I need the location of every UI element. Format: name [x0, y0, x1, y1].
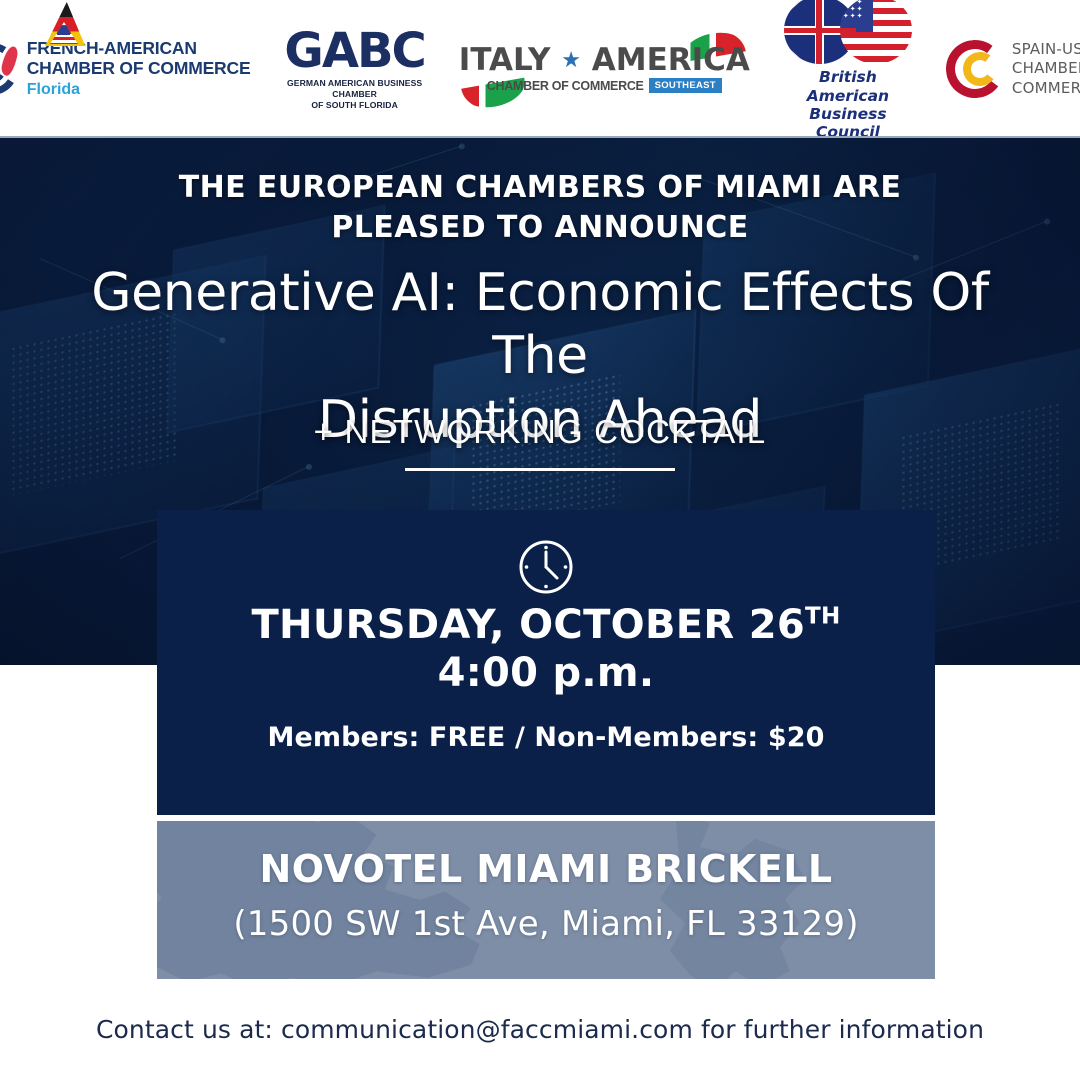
- divider-rule: [405, 468, 675, 471]
- contact-info: Contact us at: communication@faccmiami.c…: [0, 1015, 1080, 1044]
- venue-name: NOVOTEL MIAMI BRICKELL: [157, 847, 935, 891]
- event-flyer: FRENCH-AMERICAN CHAMBER OF COMMERCE Flor…: [0, 0, 1080, 1080]
- map-silhouette-secondary-icon: [625, 821, 875, 979]
- facc-line-3: Florida: [27, 81, 251, 99]
- event-date-text: THURSDAY, OCTOBER 26: [251, 602, 805, 648]
- double-c-icon: [946, 40, 1004, 98]
- gabc-wordmark: GABC: [284, 27, 424, 75]
- babc-line-2: Business Council: [784, 105, 912, 142]
- logo-spain-us-chamber: SPAIN-US CHAMBER OF COMMERCE: [946, 40, 1080, 99]
- logo-french-american-chamber: FRENCH-AMERICAN CHAMBER OF COMMERCE Flor…: [0, 39, 250, 99]
- venue-address: (1500 SW 1st Ave, Miami, FL 33129): [157, 904, 935, 944]
- map-silhouette-icon: [157, 821, 557, 979]
- clock-icon: [517, 538, 575, 601]
- spain-line-1: SPAIN-US: [1012, 40, 1080, 60]
- gabc-sub-line-1: GERMAN AMERICAN BUSINESS CHAMBER: [284, 78, 424, 99]
- event-time: 4:00 p.m.: [157, 650, 935, 696]
- event-details-panel: THURSDAY, OCTOBER 26TH 4:00 p.m. Members…: [157, 510, 935, 815]
- italy-southeast-tag: SOUTHEAST: [649, 78, 722, 93]
- facc-line-2: CHAMBER OF COMMERCE: [27, 59, 251, 79]
- event-price: Members: FREE / Non-Members: $20: [157, 722, 935, 753]
- star-icon: ★: [561, 48, 581, 73]
- event-date-ordinal: TH: [805, 604, 841, 630]
- spain-line-2: CHAMBER OF: [1012, 59, 1080, 79]
- babc-line-1: British American: [784, 68, 912, 105]
- event-date: THURSDAY, OCTOBER 26TH: [157, 602, 935, 648]
- logo-british-american-business-council: ✦✦✦✦✦✦✦✦✦ British American Business Coun…: [784, 0, 912, 142]
- logo-italy-america-chamber: ITALY ★ AMERICA CHAMBER OF COMMERCE SOUT…: [459, 45, 750, 93]
- italy-chamber-line: CHAMBER OF COMMERCE: [487, 79, 644, 93]
- sponsor-logo-strip: FRENCH-AMERICAN CHAMBER OF COMMERCE Flor…: [0, 0, 1080, 138]
- event-subtitle: + NETWORKING COCKTAIL: [0, 413, 1080, 451]
- cci-arc-flame-icon: [0, 43, 18, 95]
- america-word: AMERICA: [592, 42, 750, 78]
- italy-word: ITALY: [459, 42, 551, 78]
- announcement-line-1: THE EUROPEAN CHAMBERS OF MIAMI ARE: [0, 168, 1080, 208]
- logo-german-american-business-chamber: GABC GERMAN AMERICAN BUSINESS CHAMBER OF…: [284, 27, 424, 110]
- uk-us-flag-circles-icon: ✦✦✦✦✦✦✦✦✦: [784, 0, 912, 64]
- gabc-sub-line-2: OF SOUTH FLORIDA: [284, 100, 424, 111]
- event-title-line-1: Generative AI: Economic Effects Of The: [60, 262, 1020, 389]
- announcement-text: THE EUROPEAN CHAMBERS OF MIAMI ARE PLEAS…: [0, 168, 1080, 247]
- announcement-line-2: PLEASED TO ANNOUNCE: [0, 208, 1080, 248]
- spain-line-3: COMMERCE: [1012, 79, 1080, 99]
- venue-panel: NOVOTEL MIAMI BRICKELL (1500 SW 1st Ave,…: [157, 821, 935, 979]
